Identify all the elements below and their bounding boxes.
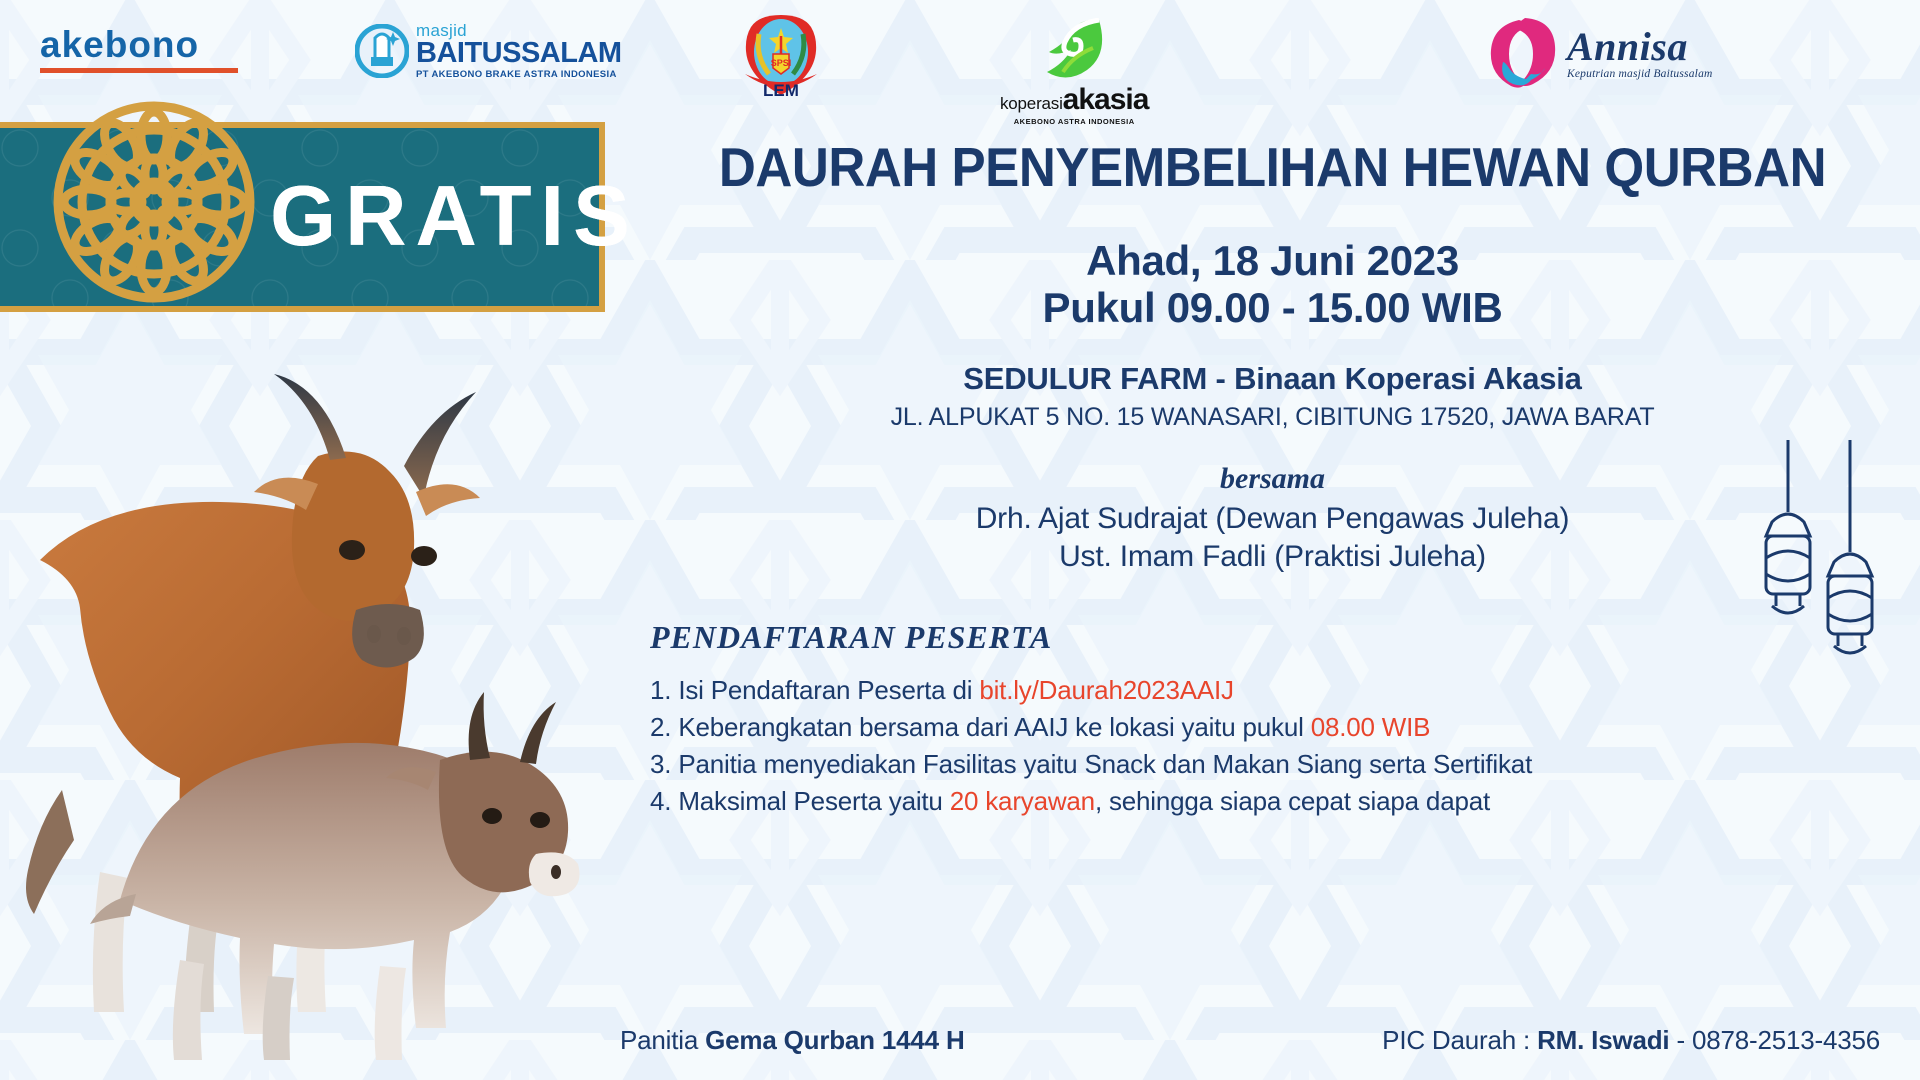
bersama-label: bersama xyxy=(640,462,1905,496)
footer-contact: PIC Daurah : RM. Iswadi - 0878-2513-4356 xyxy=(1382,1025,1880,1056)
baitussalam-line3: PT AKEBONO BRAKE ASTRA INDONESIA xyxy=(416,70,622,80)
item-number: 1. xyxy=(650,675,671,705)
item-text: Panitia menyediakan Fasilitas yaitu Snac… xyxy=(678,749,1532,779)
venue-name: SEDULUR FARM - Binaan Koperasi Akasia xyxy=(640,361,1905,397)
logo-akebono: akebono xyxy=(40,26,238,73)
logo-row: akebono masjid BAITUSSALAM PT AKEBONO BR… xyxy=(0,0,1920,100)
event-time: Pukul 09.00 - 15.00 WIB xyxy=(640,284,1905,331)
annisa-sub: Keputrian masjid Baitussalam xyxy=(1567,68,1713,80)
baitussalam-line2: BAITUSSALAM xyxy=(416,39,622,68)
speakers-list: Drh. Ajat Sudrajat (Dewan Pengawas Juleh… xyxy=(640,500,1905,575)
akebono-wordmark: akebono xyxy=(40,26,199,63)
item-text-after: , sehingga siapa cepat siapa dapat xyxy=(1095,786,1490,816)
item-number: 2. xyxy=(650,712,671,742)
speaker-item: Drh. Ajat Sudrajat (Dewan Pengawas Juleh… xyxy=(640,500,1905,538)
page-title: DAURAH PENYEMBELIHAN HEWAN QURBAN xyxy=(684,140,1860,195)
list-item: 2. Keberangkatan bersama dari AAIJ ke lo… xyxy=(650,709,1905,746)
mandala-ornament-icon xyxy=(38,86,270,323)
list-item: 1. Isi Pendaftaran Peserta di bit.ly/Dau… xyxy=(650,672,1905,709)
item-text: Isi Pendaftaran Peserta di xyxy=(678,675,979,705)
item-highlight[interactable]: bit.ly/Daurah2023AAIJ xyxy=(979,675,1234,705)
item-highlight: 08.00 WIB xyxy=(1311,712,1431,742)
akebono-underline-bar xyxy=(40,68,238,73)
logo-baitussalam: masjid BAITUSSALAM PT AKEBONO BRAKE ASTR… xyxy=(355,22,622,80)
pic-phone: - 0878-2513-4356 xyxy=(1669,1025,1880,1055)
list-item: 3. Panitia menyediakan Fasilitas yaitu S… xyxy=(650,746,1905,783)
akasia-prefix: koperasi xyxy=(1000,95,1063,112)
akasia-sub: AKEBONO ASTRA INDONESIA xyxy=(1014,117,1135,126)
akasia-name: akasia xyxy=(1063,85,1149,115)
gratis-badge: GRATIS xyxy=(0,122,605,312)
item-number: 4. xyxy=(650,786,671,816)
venue-address: JL. ALPUKAT 5 NO. 15 WANASARI, CIBITUNG … xyxy=(640,403,1905,432)
gratis-label: GRATIS xyxy=(270,168,639,266)
footer-committee: Panitia Gema Qurban 1444 H xyxy=(620,1025,965,1056)
hijab-icon xyxy=(1485,14,1563,93)
spsi-center-text: SPSI xyxy=(771,58,792,68)
item-number: 3. xyxy=(650,749,671,779)
logo-akasia: koperasi akasia AKEBONO ASTRA INDONESIA xyxy=(1000,18,1148,126)
committee-prefix: Panitia xyxy=(620,1025,705,1055)
item-highlight: 20 karyawan xyxy=(950,786,1095,816)
event-date: Ahad, 18 Juni 2023 xyxy=(640,237,1905,284)
registration-list: 1. Isi Pendaftaran Peserta di bit.ly/Dau… xyxy=(640,672,1905,820)
schedule-block: Ahad, 18 Juni 2023 Pukul 09.00 - 15.00 W… xyxy=(640,237,1905,331)
lem-ribbon-text: LEM xyxy=(763,81,799,100)
venue-block: SEDULUR FARM - Binaan Koperasi Akasia JL… xyxy=(640,361,1905,432)
logo-spsi-lem: SPSI LEM xyxy=(735,12,827,100)
footer: Panitia Gema Qurban 1444 H PIC Daurah : … xyxy=(620,1025,1880,1056)
annisa-name: Annisa xyxy=(1567,27,1713,67)
akasia-leaf-icon xyxy=(1041,18,1107,85)
pic-prefix: PIC Daurah : xyxy=(1382,1025,1537,1055)
logo-annisa: Annisa Keputrian masjid Baitussalam xyxy=(1485,14,1713,93)
livestock-photo xyxy=(0,260,640,1080)
committee-name: Gema Qurban 1444 H xyxy=(705,1025,964,1055)
speaker-item: Ust. Imam Fadli (Praktisi Juleha) xyxy=(640,538,1905,576)
list-item: 4. Maksimal Peserta yaitu 20 karyawan, s… xyxy=(650,783,1905,820)
pic-name: RM. Iswadi xyxy=(1537,1025,1669,1055)
main-content: DAURAH PENYEMBELIHAN HEWAN QURBAN Ahad, … xyxy=(640,140,1905,820)
item-text: Maksimal Peserta yaitu xyxy=(678,786,949,816)
registration-title: PENDAFTARAN PESERTA xyxy=(640,619,1905,656)
item-text: Keberangkatan bersama dari AAIJ ke lokas… xyxy=(678,712,1310,742)
mosque-dome-icon xyxy=(355,24,409,78)
